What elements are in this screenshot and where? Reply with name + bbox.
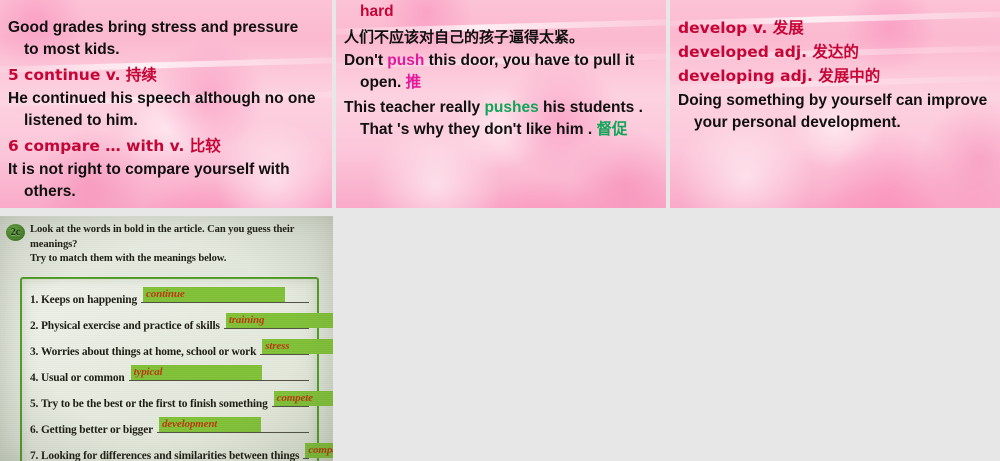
item-number: 5.: [30, 397, 38, 411]
example-sentence-push-door-line1: Don't push this door, you have to pull i…: [344, 51, 658, 70]
example-sentence-pushes-highlight: pushes: [484, 99, 538, 116]
example-sentence-development-2: your personal development.: [678, 113, 992, 132]
exercise-prompt: 2c Look at the words in bold in the arti…: [6, 223, 327, 267]
answer-text: development: [159, 417, 221, 432]
item-clue: Getting better or bigger: [41, 423, 153, 437]
push-door-text-b: this door, you have to pull it: [424, 52, 634, 69]
gloss-push-door: 推: [406, 73, 422, 91]
item-number: 3.: [30, 345, 38, 359]
entry-5-continue: 5 continue v. 持续: [8, 65, 324, 85]
slide-develop[interactable]: develop v. 发展 developed adj. 发达的 develop…: [670, 0, 1000, 208]
slide-continue-compare[interactable]: Good grades bring stress and pressure to…: [0, 0, 332, 208]
slide-1-content: Good grades bring stress and pressure to…: [0, 0, 332, 201]
item-number: 2.: [30, 319, 38, 333]
answer-blank[interactable]: continue: [141, 289, 309, 303]
slide-3-content: develop v. 发展 developed adj. 发达的 develop…: [670, 0, 1000, 132]
example-sentence-pushes-line1: This teacher really pushes his students …: [344, 98, 658, 117]
list-item: 6. Getting better or bigger development: [30, 419, 309, 437]
answer-blank[interactable]: typical: [129, 367, 309, 381]
list-item: 2. Physical exercise and practice of ski…: [30, 315, 309, 333]
pushes-text-a: This teacher really: [344, 99, 484, 116]
pushes-reason-text: That 's why they don't like him .: [360, 121, 592, 138]
exercise-answer-box: 1. Keeps on happening continue 2. Physic…: [20, 277, 319, 461]
entry-developing: developing adj. 发展中的: [678, 66, 992, 86]
exercise-prompt-text: Look at the words in bold in the article…: [30, 223, 327, 267]
answer-blank[interactable]: development: [157, 419, 309, 433]
list-item: 1. Keeps on happening continue: [30, 289, 309, 307]
entry-developed: developed adj. 发达的: [678, 42, 992, 62]
example-sentence-pressure-1: Good grades bring stress and pressure: [8, 18, 324, 37]
list-item: 7. Looking for differences and similarit…: [30, 445, 309, 461]
answer-blank[interactable]: training: [224, 315, 309, 329]
chinese-translation-push: 人们不应该对自己的孩子逼得太紧。: [344, 28, 658, 47]
answer-text: compete: [274, 391, 317, 406]
example-sentence-development-1: Doing something by yourself can improve: [678, 91, 992, 110]
blossom-decoration: [820, 130, 960, 208]
entry-develop: develop v. 发展: [678, 18, 992, 38]
page-canvas: Good grades bring stress and pressure to…: [0, 0, 1000, 461]
example-sentence-pressure-2: to most kids.: [8, 40, 324, 59]
example-sentence-continue-1: He continued his speech although no one: [8, 89, 324, 108]
answer-text: typical: [131, 365, 167, 380]
clipped-chinese-top: [8, 0, 324, 15]
answer-blank[interactable]: compete: [272, 393, 309, 407]
example-sentence-pushes-line2: That 's why they don't like him . 督促: [344, 120, 658, 139]
example-sentence-compare-1: It is not right to compare yourself with: [8, 160, 324, 179]
example-sentence-push-door-highlight: push: [387, 52, 424, 69]
item-clue: Try to be the best or the first to finis…: [41, 397, 268, 411]
gloss-pushes: 督促: [596, 120, 627, 138]
slide-2-content: hard 人们不应该对自己的孩子逼得太紧。 Don't push this do…: [336, 2, 666, 139]
exercise-number-badge: 2c: [6, 224, 25, 241]
clipped-heading-top: [678, 0, 992, 15]
answer-text: stress: [262, 339, 293, 354]
exercise-prompt-line-2: Try to match them with the meanings belo…: [30, 252, 327, 267]
item-clue: Usual or common: [41, 371, 125, 385]
item-clue: Worries about things at home, school or …: [41, 345, 256, 359]
item-number: 6.: [30, 423, 38, 437]
item-number: 7.: [30, 449, 38, 461]
item-number: 1.: [30, 293, 38, 307]
list-item: 4. Usual or common typical: [30, 367, 309, 385]
answer-text: continue: [143, 287, 189, 302]
clipped-heading-tail-hard: hard: [344, 2, 658, 22]
answer-text: training: [226, 313, 269, 328]
item-number: 4.: [30, 371, 38, 385]
example-sentence-push-door-line2: open. 推: [344, 73, 658, 92]
exercise-prompt-line-1: Look at the words in bold in the article…: [30, 223, 327, 252]
item-clue: Physical exercise and practice of skills: [41, 319, 220, 333]
list-item: 5. Try to be the best or the first to fi…: [30, 393, 309, 411]
pushes-text-b: his students .: [539, 99, 643, 116]
answer-text: compare: [305, 443, 333, 458]
blossom-decoration: [566, 130, 666, 208]
answer-blank[interactable]: stress: [260, 341, 309, 355]
item-clue: Looking for differences and similarities…: [41, 449, 299, 461]
example-sentence-compare-2: others.: [8, 182, 324, 201]
exercise-2c-content: 2c Look at the words in bold in the arti…: [0, 216, 333, 461]
answer-blank[interactable]: compare: [303, 445, 309, 459]
slide-push[interactable]: hard 人们不应该对自己的孩子逼得太紧。 Don't push this do…: [336, 0, 666, 208]
push-door-open-word: open.: [360, 74, 401, 91]
list-item: 3. Worries about things at home, school …: [30, 341, 309, 359]
example-sentence-continue-2: listened to him.: [8, 111, 324, 130]
item-clue: Keeps on happening: [41, 293, 137, 307]
exercise-2c-photo[interactable]: 2c Look at the words in bold in the arti…: [0, 216, 333, 461]
entry-6-compare: 6 compare … with v. 比较: [8, 136, 324, 156]
push-door-text-a: Don't: [344, 52, 387, 69]
